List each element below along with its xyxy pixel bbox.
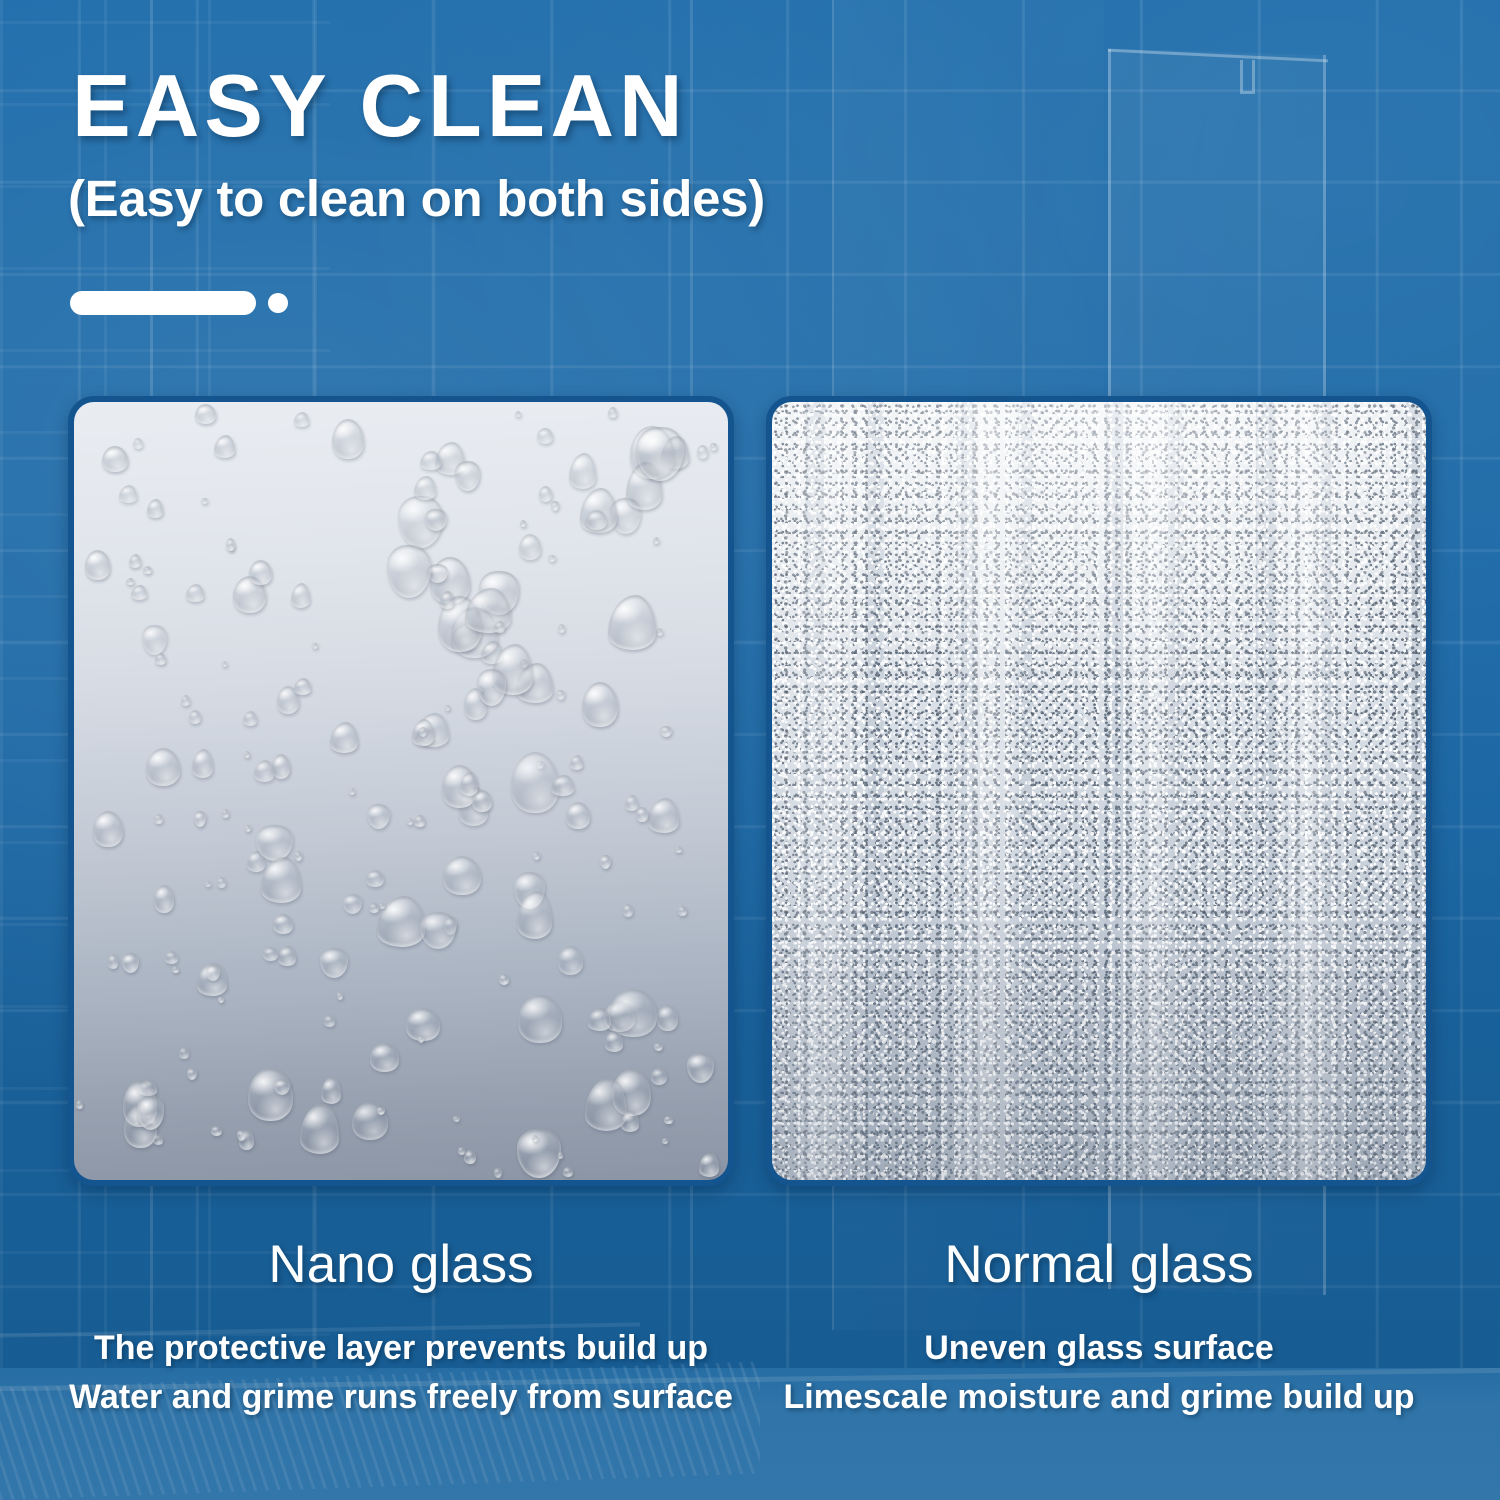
water-droplet	[243, 711, 257, 726]
water-droplet	[211, 1126, 222, 1137]
water-droplet	[443, 856, 481, 895]
normal-glass-sheen	[772, 402, 1426, 1180]
water-droplet	[520, 520, 525, 527]
water-droplet	[494, 621, 505, 634]
water-droplet	[563, 1167, 572, 1177]
water-droplet	[126, 578, 134, 586]
water-droplet	[558, 946, 584, 975]
water-droplet	[256, 825, 293, 861]
water-droplet	[273, 914, 293, 934]
water-droplet	[248, 1068, 293, 1121]
water-droplet	[662, 1138, 668, 1144]
caption-title-normal: Normal glass	[759, 1236, 1439, 1294]
accent-dot	[268, 293, 288, 313]
water-droplet	[636, 807, 648, 822]
water-droplet	[155, 653, 166, 665]
water-droplet	[337, 992, 343, 1000]
water-droplet	[272, 754, 290, 779]
water-droplet	[249, 560, 273, 585]
caption-line: Water and grime runs freely from surface	[61, 1373, 741, 1421]
water-droplet	[274, 1079, 289, 1095]
water-droplet	[414, 815, 425, 828]
water-droplet	[420, 451, 441, 470]
water-droplet	[147, 499, 163, 518]
water-droplet	[460, 772, 478, 796]
water-droplet	[570, 755, 583, 770]
water-droplet	[76, 1100, 83, 1109]
water-droplet	[131, 585, 147, 601]
water-droplet	[537, 428, 554, 445]
water-droplet	[172, 966, 179, 973]
water-droplet	[621, 1111, 639, 1132]
water-droplet	[623, 904, 632, 917]
caption-lines-nano: The protective layer prevents build up W…	[61, 1324, 741, 1421]
water-droplet	[194, 811, 206, 826]
water-droplet	[425, 509, 447, 531]
water-droplet	[218, 997, 223, 1002]
water-droplet	[556, 690, 564, 700]
water-droplet	[226, 538, 236, 551]
water-droplet	[244, 751, 250, 758]
water-droplet	[245, 825, 250, 832]
water-droplet	[458, 1147, 465, 1155]
water-droplet	[678, 906, 687, 916]
water-droplet	[146, 748, 180, 786]
water-droplet	[566, 802, 591, 828]
water-droplet	[119, 485, 137, 503]
water-droplet	[324, 1015, 335, 1027]
water-droplet	[657, 1005, 678, 1031]
water-droplet	[414, 476, 436, 500]
water-droplet	[609, 989, 657, 1037]
water-droplet	[102, 446, 128, 472]
water-droplet	[122, 953, 139, 973]
caption-normal: Normal glass Uneven glass surface Limesc…	[759, 1236, 1439, 1421]
page-title: EASY CLEAN	[72, 62, 688, 150]
water-droplet	[366, 870, 384, 887]
water-droplet	[294, 678, 312, 695]
water-droplet	[330, 722, 358, 753]
caption-nano: Nano glass The protective layer prevents…	[61, 1236, 741, 1421]
water-droplet	[370, 1043, 399, 1071]
water-droplet	[254, 760, 274, 782]
water-droplet	[539, 486, 553, 502]
water-droplet	[377, 1107, 385, 1115]
title-underline-accent	[70, 290, 288, 316]
water-droplet	[217, 877, 226, 888]
water-droplet	[294, 412, 309, 426]
water-droplet	[533, 852, 540, 860]
water-droplet	[189, 710, 201, 723]
water-droplet	[558, 624, 566, 633]
water-droplet	[295, 851, 302, 861]
water-droplet	[154, 814, 163, 825]
water-droplet	[263, 947, 278, 962]
water-droplet	[133, 438, 142, 449]
comparison-panel-normal	[766, 396, 1432, 1186]
caption-line: Uneven glass surface	[759, 1324, 1439, 1372]
water-droplet	[222, 809, 229, 818]
caption-line: Limescale moisture and grime build up	[759, 1373, 1439, 1421]
water-droplet	[93, 811, 123, 847]
water-droplet	[558, 1152, 564, 1159]
water-droplet	[664, 1116, 673, 1125]
water-droplet	[653, 537, 659, 544]
accent-bar	[70, 291, 256, 315]
water-droplet	[464, 1150, 476, 1165]
water-droplet	[165, 951, 178, 964]
water-droplet	[440, 591, 453, 609]
water-droplet	[192, 749, 213, 778]
water-droplet	[179, 1047, 190, 1059]
water-droplet	[551, 775, 574, 797]
water-droplet	[154, 885, 175, 913]
water-droplet	[608, 407, 617, 418]
water-droplet	[697, 445, 709, 459]
water-droplet	[625, 795, 638, 812]
water-droplet	[600, 855, 611, 869]
water-droplet	[129, 554, 141, 568]
comparison-panel-nano	[68, 396, 734, 1186]
page-subtitle: (Easy to clean on both sides)	[68, 172, 765, 226]
water-droplet	[605, 1031, 622, 1052]
water-droplet	[85, 550, 111, 580]
water-droplet	[499, 974, 509, 985]
water-droplet	[369, 903, 378, 914]
water-droplet	[186, 584, 205, 602]
water-droplet	[548, 555, 556, 563]
caption-line: The protective layer prevents build up	[61, 1324, 741, 1372]
water-droplet	[181, 695, 190, 706]
water-droplet	[651, 1068, 667, 1085]
caption-lines-normal: Uneven glass surface Limescale moisture …	[759, 1324, 1439, 1421]
water-droplet	[108, 954, 119, 968]
water-droplet	[195, 404, 216, 424]
water-droplet	[586, 510, 608, 530]
infographic-canvas: EASY CLEAN (Easy to clean on both sides)…	[0, 0, 1500, 1500]
water-droplet	[349, 788, 355, 795]
water-droplet	[518, 995, 562, 1043]
water-droplet	[332, 419, 363, 459]
water-droplet	[551, 501, 558, 511]
caption-title-nano: Nano glass	[61, 1236, 741, 1294]
water-droplet	[222, 661, 227, 666]
